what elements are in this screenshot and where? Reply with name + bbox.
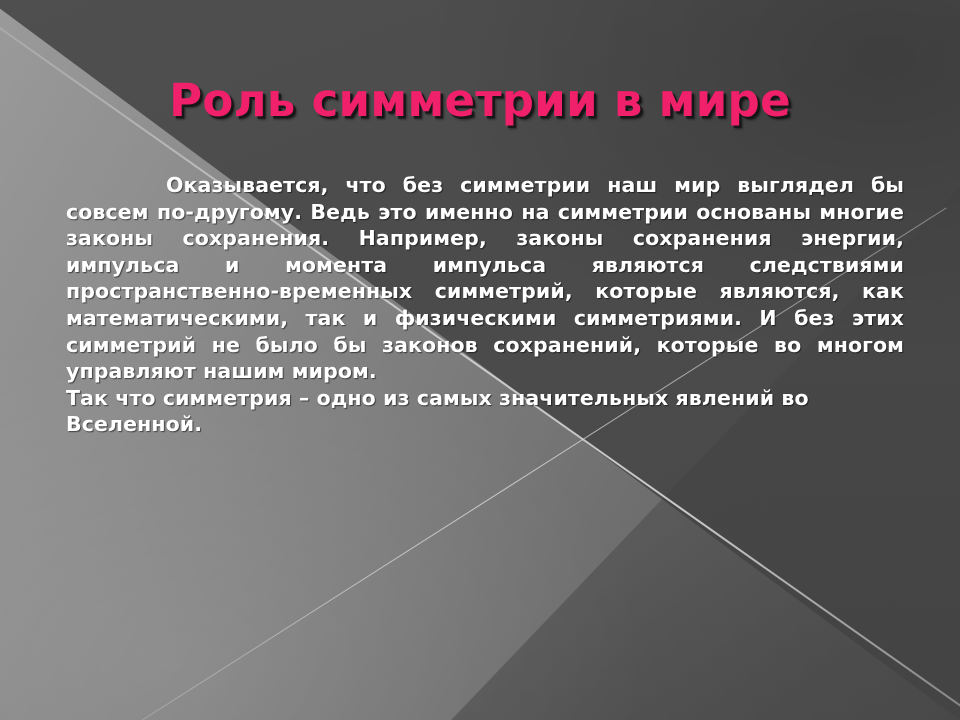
slide-title: Роль симметрии в мире (0, 74, 960, 127)
presentation-slide: Роль симметрии в мире Оказывается, что б… (0, 0, 960, 720)
slide-body-text: Оказывается, что без симметрии наш мир в… (66, 172, 904, 438)
body-paragraph-2: Так что симметрия – одно из самых значит… (66, 385, 904, 438)
slide-content: Роль симметрии в мире Оказывается, что б… (0, 0, 960, 720)
body-paragraph-1: Оказывается, что без симметрии наш мир в… (66, 172, 904, 385)
